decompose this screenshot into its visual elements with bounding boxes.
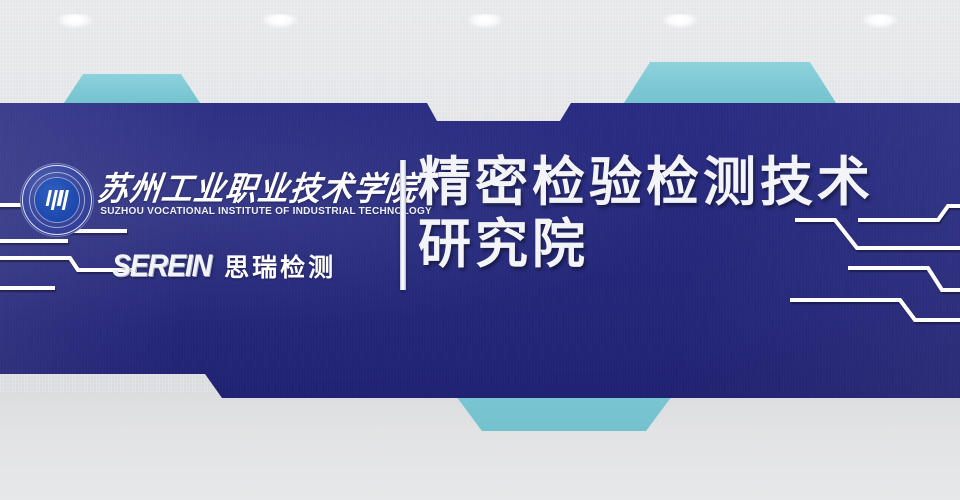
teal-panel-top-right bbox=[622, 62, 838, 106]
spotlight-2 bbox=[205, 14, 355, 114]
signage-scene: 苏州工业职业技术学院 SUZHOU VOCATIONAL INSTITUTE O… bbox=[0, 0, 960, 500]
ceiling-lamp-3 bbox=[477, 16, 493, 23]
emblem-monogram-icon bbox=[45, 190, 70, 210]
brand-block: 苏州工业职业技术学院 SUZHOU VOCATIONAL INSTITUTE O… bbox=[18, 160, 396, 290]
serein-wordmark: SEREIN bbox=[112, 248, 211, 284]
ceiling-lamp-1 bbox=[67, 16, 83, 23]
university-emblem-icon bbox=[20, 163, 94, 237]
ceiling-lamp-2 bbox=[272, 16, 288, 23]
ceiling-lamp-5 bbox=[872, 16, 888, 23]
university-name-en: SUZHOU VOCATIONAL INSTITUTE OF INDUSTRIA… bbox=[100, 206, 396, 217]
university-name-cn: 苏州工业职业技术学院 bbox=[95, 162, 399, 210]
page-title: 精密检验检测技术 研究院 bbox=[418, 152, 948, 276]
spotlight-3 bbox=[410, 14, 560, 114]
vertical-divider-bar bbox=[400, 160, 406, 290]
emblem-disc bbox=[35, 178, 79, 222]
page-title-line-2: 研究院 bbox=[418, 214, 948, 276]
page-title-line-1: 精密检验检测技术 bbox=[418, 152, 948, 214]
ceiling-lamp-4 bbox=[672, 16, 688, 23]
teal-panel-top-left bbox=[62, 74, 202, 106]
serein-name-cn: 思瑞检测 bbox=[224, 248, 336, 284]
partner-brand-row: SEREIN 思瑞检测 bbox=[113, 248, 336, 284]
teal-panel-bottom-center bbox=[456, 396, 672, 431]
